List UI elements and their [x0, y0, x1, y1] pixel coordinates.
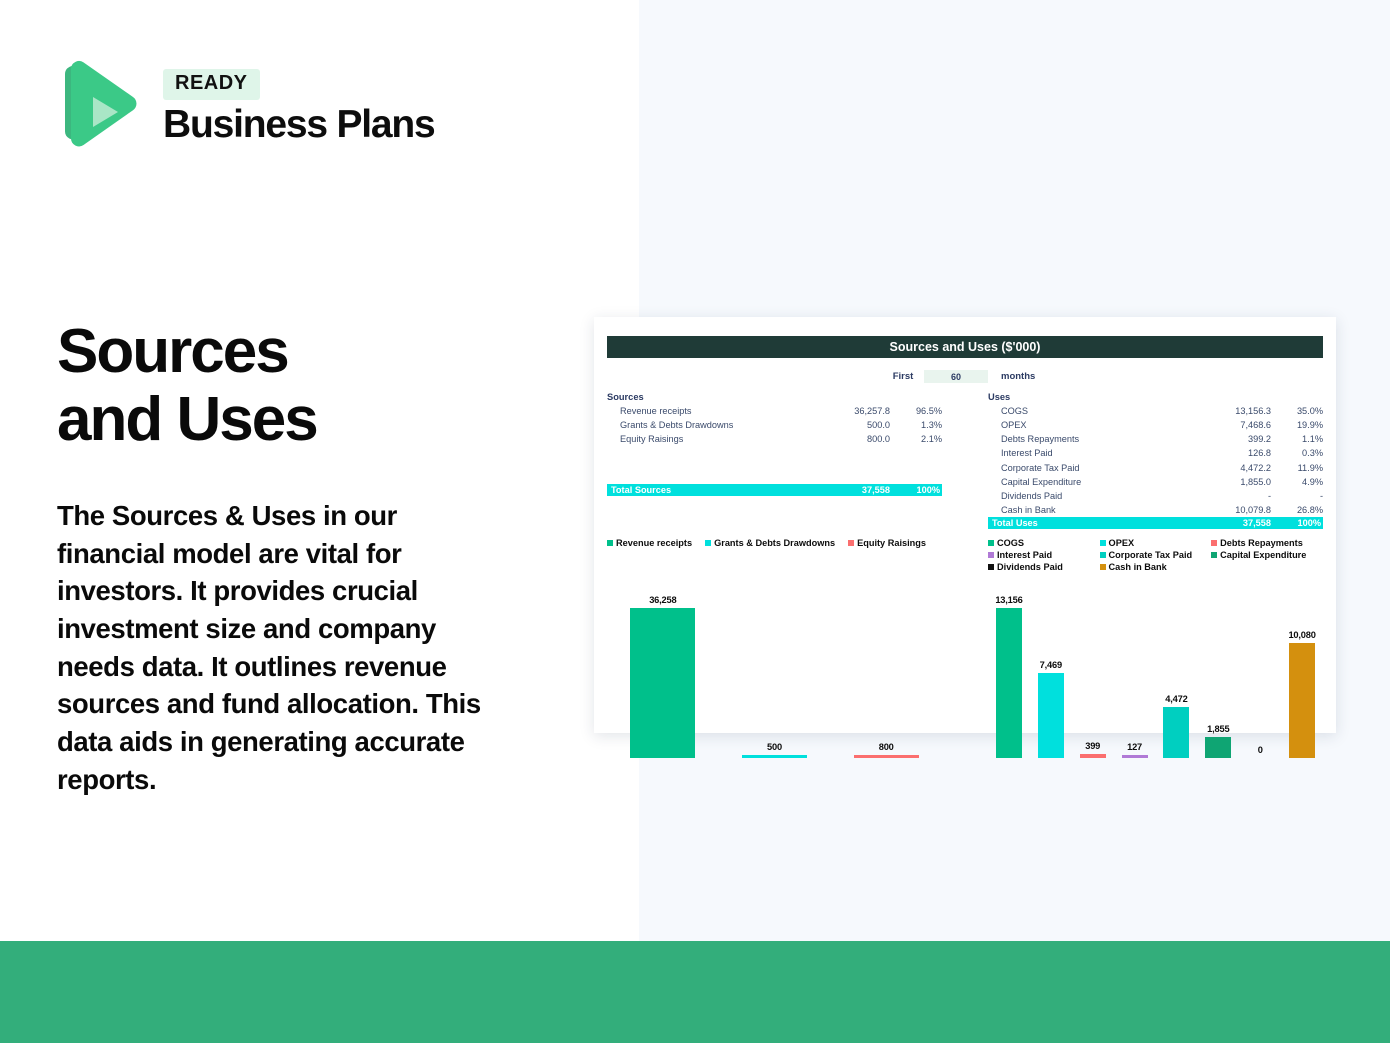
- legend-item[interactable]: Revenue receipts: [607, 538, 692, 548]
- sources-group-header: Sources: [607, 392, 942, 404]
- legend-item[interactable]: OPEX: [1100, 538, 1212, 548]
- row-pct: 0.3%: [1271, 446, 1323, 460]
- bar-slot: 36,258: [607, 578, 719, 758]
- row-label: OPEX: [988, 418, 1199, 432]
- bar-slot: 500: [719, 578, 831, 758]
- bar-value-label: 13,156: [995, 595, 1022, 605]
- legend-swatch-icon: [607, 540, 613, 546]
- sources-bar-chart: 36,258500800: [607, 578, 942, 758]
- table-spacer: [607, 446, 942, 480]
- slide-root: READY Business Plans Sources and Uses Th…: [0, 0, 1390, 1043]
- legend-label: OPEX: [1109, 538, 1135, 548]
- page-title: Sources and Uses: [57, 318, 577, 454]
- row-pct: 26.8%: [1271, 503, 1323, 517]
- table-row: Cash in Bank10,079.826.8%: [988, 503, 1323, 517]
- bar-value-label: 127: [1127, 742, 1142, 752]
- row-value: 1,855.0: [1199, 475, 1271, 489]
- bar-value-label: 4,472: [1165, 694, 1187, 704]
- total-uses-value: 37,558: [1199, 518, 1271, 528]
- table-row: OPEX7,468.619.9%: [988, 418, 1323, 432]
- table-row: Equity Raisings800.02.1%: [607, 432, 942, 446]
- legend-item[interactable]: COGS: [988, 538, 1100, 548]
- row-value: 36,257.8: [818, 404, 890, 418]
- row-label: Dividends Paid: [988, 489, 1199, 503]
- chart-legends: Revenue receiptsGrants & Debts Drawdowns…: [594, 538, 1336, 574]
- period-selector-row: First 60 months: [594, 370, 1336, 383]
- uses-rows: COGS13,156.335.0%OPEX7,468.619.9%Debts R…: [988, 404, 1323, 517]
- legend-swatch-icon: [988, 552, 994, 558]
- bar-slot: 7,469: [1030, 578, 1072, 758]
- bar-value-label: 10,080: [1288, 630, 1315, 640]
- row-pct: 4.9%: [1271, 475, 1323, 489]
- row-label: Capital Expenditure: [988, 475, 1199, 489]
- row-value: 4,472.2: [1199, 461, 1271, 475]
- row-label: COGS: [988, 404, 1199, 418]
- bar-slot: 800: [830, 578, 942, 758]
- bar[interactable]: [1289, 643, 1315, 758]
- table-row: Debts Repayments399.21.1%: [988, 432, 1323, 446]
- spreadsheet-card: Sources and Uses ($'000) First 60 months…: [594, 317, 1336, 733]
- legend-label: COGS: [997, 538, 1024, 548]
- bar[interactable]: [1163, 707, 1189, 758]
- uses-table: Uses COGS13,156.335.0%OPEX7,468.619.9%De…: [988, 392, 1323, 529]
- legend-swatch-icon: [1100, 564, 1106, 570]
- row-label: Cash in Bank: [988, 503, 1199, 517]
- bar[interactable]: [1080, 754, 1106, 759]
- total-sources-value: 37,558: [818, 485, 890, 495]
- row-value: 399.2: [1199, 432, 1271, 446]
- table-row: COGS13,156.335.0%: [988, 404, 1323, 418]
- row-pct: 2.1%: [890, 432, 942, 446]
- brand-logo[interactable]: READY Business Plans: [57, 57, 435, 149]
- bar-slot: 1,855: [1197, 578, 1239, 758]
- bar[interactable]: [630, 608, 695, 758]
- bar-slot: 127: [1114, 578, 1156, 758]
- brand-badge: READY: [163, 69, 260, 100]
- uses-bar-chart: 13,1567,4693991274,4721,855010,080: [988, 578, 1323, 758]
- bar-value-label: 7,469: [1040, 660, 1062, 670]
- bar-slot: 399: [1072, 578, 1114, 758]
- play-triangle-logo-icon: [57, 57, 149, 149]
- total-uses-row: Total Uses 37,558 100%: [988, 517, 1323, 529]
- page-description: The Sources & Uses in our financial mode…: [57, 497, 507, 798]
- row-label: Grants & Debts Drawdowns: [607, 418, 818, 432]
- row-value: 7,468.6: [1199, 418, 1271, 432]
- total-uses-label: Total Uses: [988, 518, 1199, 528]
- period-suffix-label: months: [988, 371, 1048, 382]
- period-months-input[interactable]: 60: [924, 370, 988, 383]
- legend-swatch-icon: [988, 540, 994, 546]
- table-row: Grants & Debts Drawdowns500.01.3%: [607, 418, 942, 432]
- row-pct: 11.9%: [1271, 461, 1323, 475]
- legend-label: Capital Expenditure: [1220, 550, 1306, 560]
- legend-item[interactable]: Cash in Bank: [1100, 562, 1212, 572]
- total-uses-pct: 100%: [1271, 518, 1323, 528]
- bar-value-label: 1,855: [1207, 724, 1229, 734]
- row-value: 10,079.8: [1199, 503, 1271, 517]
- table-row: Dividends Paid--: [988, 489, 1323, 503]
- row-value: 500.0: [818, 418, 890, 432]
- bar-value-label: 399: [1085, 741, 1100, 751]
- bar-value-label: 36,258: [649, 595, 676, 605]
- legend-swatch-icon: [848, 540, 854, 546]
- legend-swatch-icon: [1100, 552, 1106, 558]
- legend-item[interactable]: Interest Paid: [988, 550, 1100, 560]
- bar[interactable]: [854, 755, 919, 758]
- row-label: Interest Paid: [988, 446, 1199, 460]
- legend-swatch-icon: [1211, 540, 1217, 546]
- row-pct: 35.0%: [1271, 404, 1323, 418]
- row-value: 13,156.3: [1199, 404, 1271, 418]
- legend-swatch-icon: [705, 540, 711, 546]
- sheet-title: Sources and Uses ($'000): [607, 336, 1323, 358]
- bar-value-label: 500: [767, 742, 782, 752]
- row-value: -: [1199, 489, 1271, 503]
- legend-label: Revenue receipts: [616, 538, 692, 548]
- legend-item[interactable]: Corporate Tax Paid: [1100, 550, 1212, 560]
- legend-label: Corporate Tax Paid: [1109, 550, 1193, 560]
- period-prefix-label: First: [882, 371, 924, 382]
- total-sources-row: Total Sources 37,558 100%: [607, 484, 942, 496]
- tables-area: Sources Revenue receipts36,257.896.5%Gra…: [594, 392, 1336, 529]
- row-label: Revenue receipts: [607, 404, 818, 418]
- bar-value-label: 0: [1258, 745, 1263, 755]
- row-pct: 1.3%: [890, 418, 942, 432]
- sources-rows: Revenue receipts36,257.896.5%Grants & De…: [607, 404, 942, 480]
- bottom-accent-band: [0, 941, 1390, 1043]
- legend-label: Equity Raisings: [857, 538, 926, 548]
- sources-chart-legend: Revenue receiptsGrants & Debts Drawdowns…: [607, 538, 942, 574]
- bar[interactable]: [742, 755, 807, 758]
- table-row: Capital Expenditure1,855.04.9%: [988, 475, 1323, 489]
- legend-item[interactable]: Dividends Paid: [988, 562, 1100, 572]
- bar-slot: 0: [1239, 578, 1281, 758]
- bar[interactable]: [1205, 737, 1231, 758]
- legend-label: Debts Repayments: [1220, 538, 1303, 548]
- legend-label: Grants & Debts Drawdowns: [714, 538, 835, 548]
- row-label: Corporate Tax Paid: [988, 461, 1199, 475]
- charts-area: 36,258500800 13,1567,4693991274,4721,855…: [594, 578, 1336, 758]
- bar[interactable]: [996, 608, 1022, 758]
- bar-value-label: 800: [879, 742, 894, 752]
- total-sources-label: Total Sources: [607, 485, 818, 495]
- row-pct: 96.5%: [890, 404, 942, 418]
- legend-item[interactable]: Capital Expenditure: [1211, 550, 1323, 560]
- bar[interactable]: [1038, 673, 1064, 758]
- legend-label: Interest Paid: [997, 550, 1052, 560]
- legend-item[interactable]: Equity Raisings: [848, 538, 926, 548]
- row-label: Debts Repayments: [988, 432, 1199, 446]
- row-label: Equity Raisings: [607, 432, 818, 446]
- legend-swatch-icon: [1211, 552, 1217, 558]
- legend-item[interactable]: Grants & Debts Drawdowns: [705, 538, 835, 548]
- legend-label: Dividends Paid: [997, 562, 1063, 572]
- bar-slot: 13,156: [988, 578, 1030, 758]
- bar-slot: 10,080: [1281, 578, 1323, 758]
- uses-chart-legend: COGSOPEXDebts RepaymentsInterest PaidCor…: [988, 538, 1323, 574]
- sources-table: Sources Revenue receipts36,257.896.5%Gra…: [607, 392, 942, 529]
- table-row: Interest Paid126.80.3%: [988, 446, 1323, 460]
- brand-name: Business Plans: [163, 105, 435, 144]
- row-pct: 19.9%: [1271, 418, 1323, 432]
- total-sources-pct: 100%: [890, 485, 942, 495]
- row-pct: 1.1%: [1271, 432, 1323, 446]
- bar[interactable]: [1122, 755, 1148, 758]
- row-pct: -: [1271, 489, 1323, 503]
- table-row: Corporate Tax Paid4,472.211.9%: [988, 461, 1323, 475]
- bar-slot: 4,472: [1156, 578, 1198, 758]
- legend-label: Cash in Bank: [1109, 562, 1167, 572]
- row-value: 800.0: [818, 432, 890, 446]
- legend-swatch-icon: [1100, 540, 1106, 546]
- table-row: Revenue receipts36,257.896.5%: [607, 404, 942, 418]
- legend-item[interactable]: Debts Repayments: [1211, 538, 1323, 548]
- uses-group-header: Uses: [988, 392, 1323, 404]
- legend-swatch-icon: [988, 564, 994, 570]
- row-value: 126.8: [1199, 446, 1271, 460]
